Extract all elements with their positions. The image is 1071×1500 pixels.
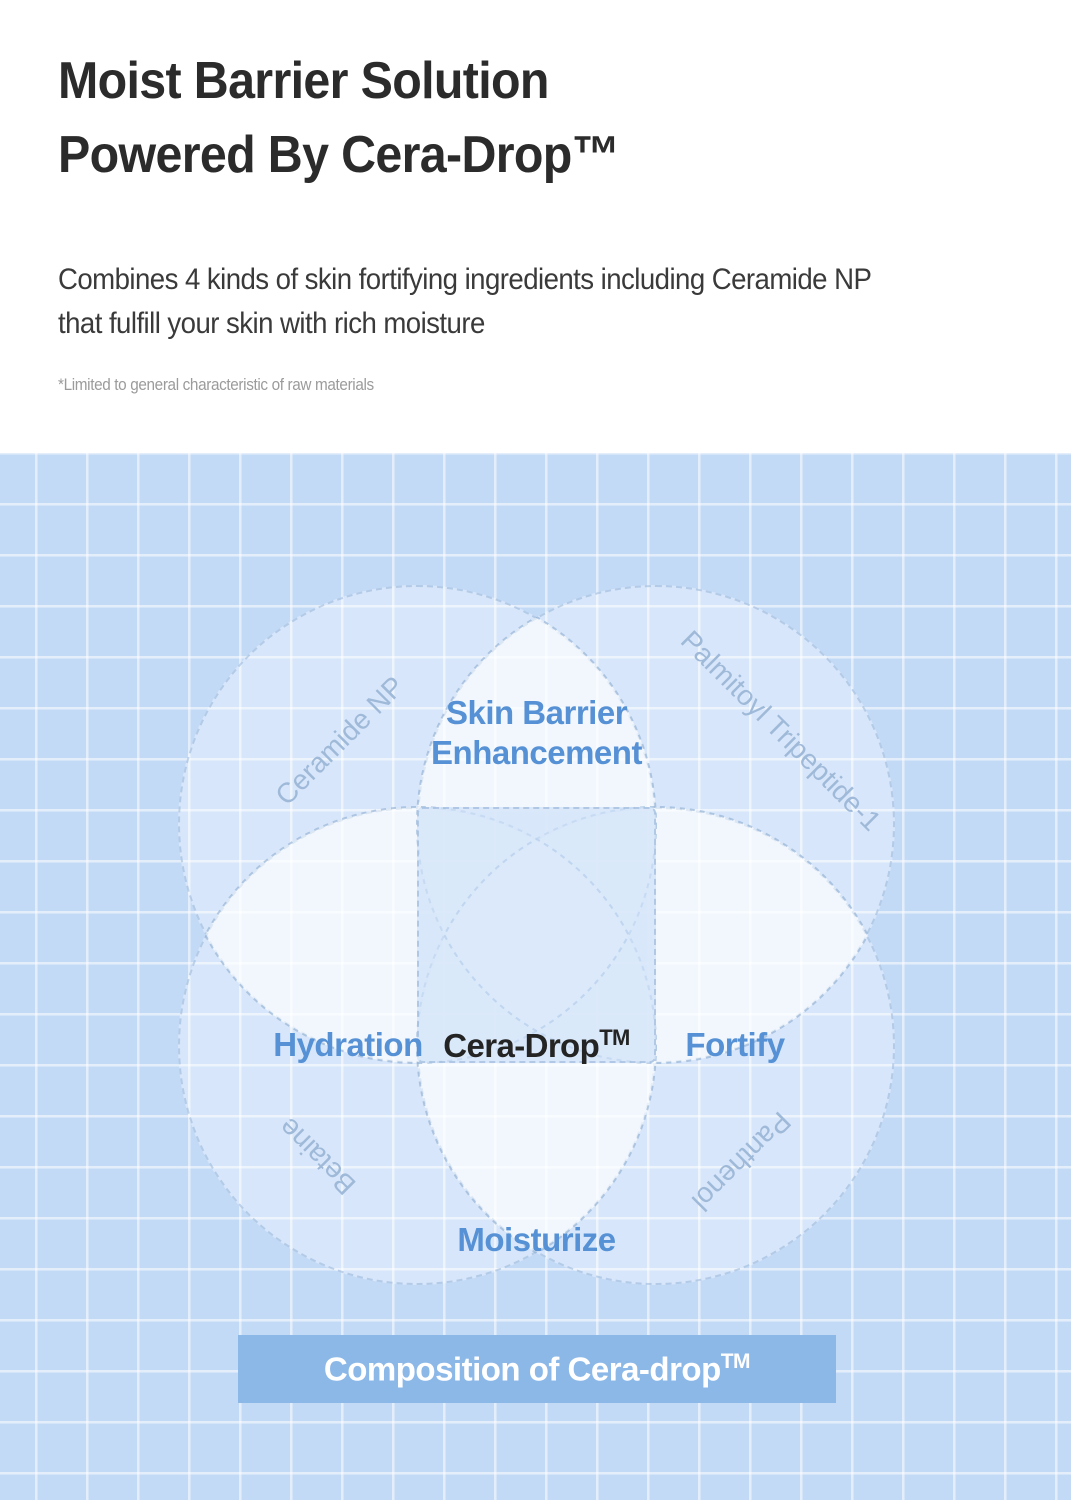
header-section: Moist Barrier Solution Powered By Cera-D… (0, 0, 1071, 453)
diagram-caption-banner: Composition of Cera-dropTM (238, 1335, 836, 1403)
diagram-caption-label: Composition of Cera-drop (324, 1350, 721, 1387)
venn-diagram: Skin Barrier Enhancement Hydration Forti… (178, 585, 895, 1285)
page-subtitle: Combines 4 kinds of skin fortifying ingr… (58, 258, 969, 347)
venn-label-fortify: Fortify (625, 1025, 845, 1065)
page-title: Moist Barrier Solution Powered By Cera-D… (58, 45, 942, 193)
diagram-caption-text: Composition of Cera-dropTM (324, 1350, 750, 1389)
venn-label-skin-barrier-enhancement: Skin Barrier Enhancement (417, 693, 656, 772)
venn-center-label-text: Cera-Drop (443, 1027, 599, 1064)
venn-center-label: Cera-DropTM (417, 1025, 656, 1065)
trademark-symbol: TM (721, 1350, 750, 1373)
product-infographic-page: Moist Barrier Solution Powered By Cera-D… (0, 0, 1071, 1500)
trademark-symbol: TM (599, 1025, 630, 1050)
page-footnote: *Limited to general characteristic of ra… (58, 375, 374, 395)
venn-label-moisturize: Moisturize (417, 1220, 656, 1260)
diagram-panel: Skin Barrier Enhancement Hydration Forti… (0, 453, 1071, 1500)
